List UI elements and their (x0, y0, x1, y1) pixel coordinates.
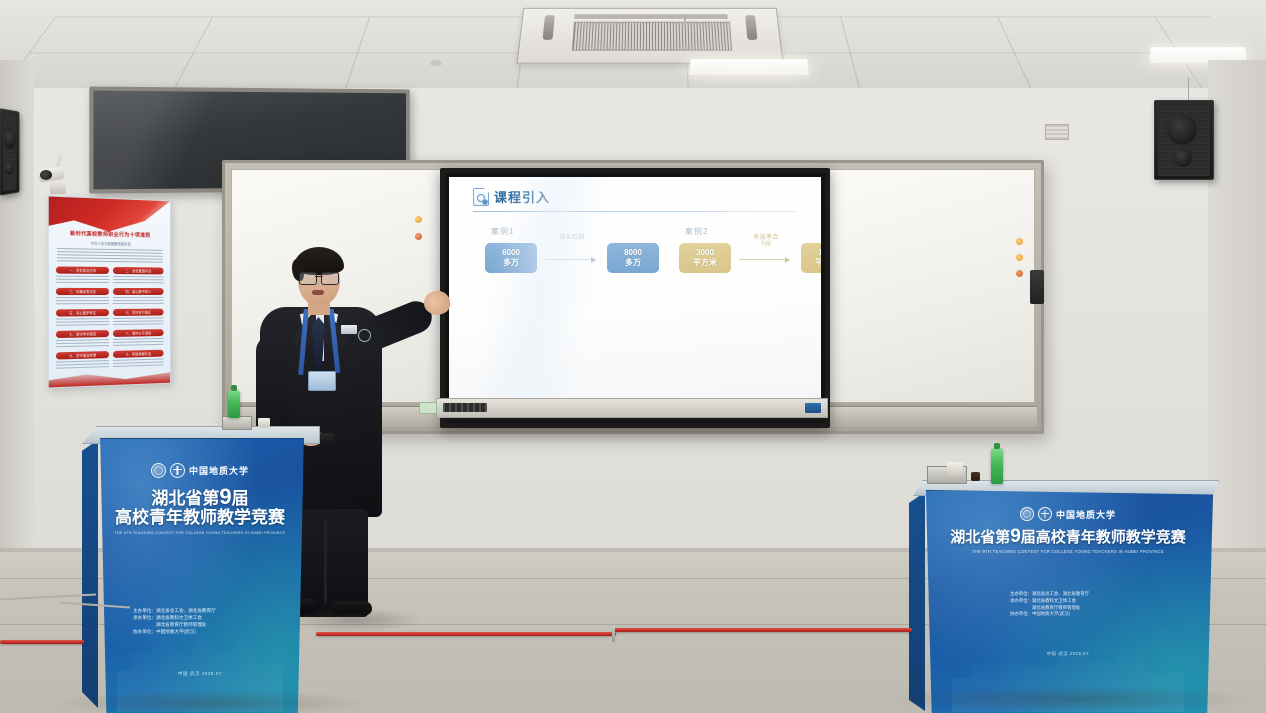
list-item: 十、积极奉献社会 (113, 350, 164, 369)
panel-screen[interactable]: 课程引入 案例1 6000 多万 增长红利 (449, 177, 821, 401)
rope-barrier-segment (316, 632, 616, 636)
podium-banner: 中国地质大学 湖北省第9届高校青年教师教学竞赛 THE 9TH TEACHING… (923, 490, 1213, 713)
ceiling-light (689, 59, 809, 75)
organizer-line: 协办单位：中国地质大学(武汉) (1010, 611, 1089, 618)
case-flow-row: 6000 多万 增长红利 8000 多万 (485, 243, 659, 273)
ceiling-ac-cassette (516, 8, 783, 64)
wall-vent (1045, 124, 1069, 140)
wall-speaker-right (1154, 100, 1214, 180)
arrow-label: 增长红利 (559, 232, 585, 241)
green-water-bottle (991, 448, 1003, 484)
poster-item-label: 四、潜心教书育人 (113, 288, 164, 295)
title-line1-tail: 届 (1021, 529, 1036, 546)
slide-title: 课程引入 (494, 187, 550, 206)
magnet-icon[interactable] (1016, 270, 1023, 277)
podium-side-panel (909, 492, 925, 711)
poster-item-label: 八、秉持公平诚信 (113, 329, 164, 337)
presenter-glasses-icon (299, 272, 339, 283)
slide-content: 课程引入 案例1 6000 多万 增长红利 (449, 177, 821, 401)
speaker-cone-icon (1167, 115, 1197, 145)
poster-item-label: 七、遵守学术规范 (56, 330, 109, 338)
podium-banner: 中国地质大学 湖北省第9届 高校青年教师教学竞赛 THE 9TH TEACHIN… (96, 438, 304, 713)
speaker-tweeter-icon (1174, 149, 1192, 167)
glasses-lens-left (299, 272, 317, 285)
ac-vent-right (745, 15, 757, 40)
camera-bracket (50, 180, 66, 194)
poster-subtitle: 中华人民共和国教育部印发 (59, 240, 161, 247)
university-name: 中国地质大学 (189, 464, 249, 477)
flow-node-from: 3000 平方米 (679, 243, 731, 273)
title-line1-part: 湖北省第 (950, 529, 1010, 546)
poster-items: 一、坚定政治方向 二、自觉爱国守法 三、传播优秀文化 四、潜心教书育人 五、关心… (56, 266, 164, 370)
presenter-lapel-pin-icon (358, 329, 371, 342)
contest-edition-number: 9 (1010, 526, 1021, 547)
organizer-line: 协办单位：中国地质大学(武汉) (133, 628, 216, 635)
podium-side-panel (82, 440, 98, 708)
flow-node-to: 8000 多万 (607, 243, 659, 273)
flow-arrow: 有效率合 利益 (735, 243, 797, 273)
smoke-detector-icon (430, 60, 442, 66)
list-item: 一、坚定政治方向 (56, 266, 109, 285)
speaker-cone-icon (4, 128, 16, 149)
title-line2: 高校青年教师教学竞赛 (1036, 529, 1186, 546)
desk-small-prop (971, 472, 980, 481)
contest-title: 湖北省第9届 高校青年教师教学竞赛 (97, 485, 303, 527)
poster-intro-text (57, 248, 163, 264)
document-search-icon (473, 188, 489, 206)
wall-poster: 新时代高校教师职业行为十项准则 中华人民共和国教育部印发 一、坚定政治方向 二、… (48, 195, 171, 388)
green-water-bottle (228, 390, 240, 418)
slide-divider (473, 211, 797, 212)
whiteboard-surface-right (825, 169, 1035, 403)
node-unit: 多万 (503, 258, 519, 268)
speaker-mesh (3, 113, 16, 191)
case-flow-row: 3000 平方米 有效率合 利益 1247 平方米 (679, 243, 821, 273)
rope-post (612, 626, 615, 642)
case-block-1: 案例1 6000 多万 增长红利 (465, 226, 659, 273)
list-item: 三、传播优秀文化 (56, 288, 109, 306)
organizer-line: 承办单位：湖北省教科文卫体工会 (1010, 598, 1089, 605)
organizer-list: 主办单位：湖北省总工会、湖北省教育厅 承办单位：湖北省教科文卫体工会 湖北省教育… (1010, 591, 1089, 618)
poster-item-label: 十、积极奉献社会 (113, 350, 164, 358)
magnet-icon[interactable] (1016, 254, 1023, 261)
university-name: 中国地质大学 (1056, 508, 1116, 521)
contest-title: 湖北省第9届高校青年教师教学竞赛 (924, 527, 1212, 547)
rope-barrier-segment (612, 628, 912, 632)
contest-seal-icon (151, 463, 166, 478)
list-item: 九、坚守廉洁自律 (56, 351, 109, 371)
podium-left-shadow (60, 690, 360, 713)
ac-louver-bar (574, 14, 728, 19)
presenter-mouth (312, 290, 324, 295)
arrow-line-icon (739, 259, 789, 260)
poster-item-label: 六、坚持言行雅正 (113, 309, 164, 316)
event-date-location: 中国·武汉 2025.07 (924, 651, 1212, 657)
node-unit: 平方米 (815, 258, 821, 268)
title-line1-tail: 届 (232, 489, 249, 508)
list-item: 七、遵守学术规范 (56, 330, 109, 349)
organizer-list: 主办单位：湖北省总工会、湖北省教育厅 承办单位：湖北省教科文卫体工会 湖北省教育… (133, 607, 216, 635)
list-item: 五、关心爱护学生 (56, 309, 109, 328)
podium-left: 中国地质大学 湖北省第9届 高校青年教师教学竞赛 THE 9TH TEACHIN… (82, 426, 318, 713)
wall-speaker-left (0, 108, 20, 196)
organizer-line: 主办单位：湖北省总工会、湖北省教育厅 (1010, 591, 1089, 598)
flow-node-to: 1247 平方米 (801, 243, 821, 273)
presenter-leg-seam (324, 521, 327, 603)
event-date-location: 中国·武汉 2025.07 (97, 671, 303, 677)
poster-item-label: 二、自觉爱国守法 (113, 267, 164, 274)
classroom-scene: 新时代高校教师职业行为十项准则 中华人民共和国教育部印发 一、坚定政治方向 二、… (0, 0, 1266, 713)
node-value: 3000 (696, 248, 714, 258)
flow-arrow: 增长红利 (541, 243, 603, 273)
podium-right-shadow (890, 686, 1250, 712)
list-item: 二、自觉爱国守法 (113, 267, 164, 285)
presenter-name-tag (341, 325, 357, 334)
glasses-lens-right (321, 272, 339, 285)
panel-shelf (436, 398, 828, 418)
node-value: 1247 (818, 248, 821, 258)
organizer-line: 承办单位：湖北省教科文卫体工会 (133, 614, 216, 621)
contest-edition-number: 9 (219, 484, 231, 509)
ceiling-stem (684, 14, 686, 28)
arrow-sublabel: 利益 (761, 240, 771, 247)
contest-title-english: THE 9TH TEACHING CONTEST FOR COLLEGE YOU… (97, 531, 303, 535)
podium-logo-row: 中国地质大学 (97, 463, 303, 478)
list-item: 八、秉持公平诚信 (113, 329, 164, 348)
panel-control-strip[interactable] (443, 403, 487, 412)
title-line1-part: 湖北省第 (151, 489, 219, 508)
podium-right: 中国地质大学 湖北省第9届高校青年教师教学竞赛 THE 9TH TEACHING… (905, 480, 1225, 713)
magnet-icon[interactable] (415, 233, 422, 240)
title-line2: 高校青年教师教学竞赛 (97, 509, 303, 527)
panel-logo-badge (805, 403, 821, 413)
contest-seal-icon (1020, 507, 1034, 521)
interactive-flat-panel[interactable]: 课程引入 案例1 6000 多万 增长红利 (440, 168, 830, 428)
node-value: 8000 (624, 248, 642, 258)
board-side-clip (1030, 270, 1044, 304)
flow-node-from: 6000 多万 (485, 243, 537, 273)
presenter-hair (294, 247, 344, 275)
camera-lens-icon (40, 170, 52, 180)
case-block-2: 案例2 3000 平方米 有效率合 利益 (659, 226, 821, 273)
node-value: 6000 (502, 248, 520, 258)
poster-item-label: 九、坚守廉洁自律 (56, 351, 109, 359)
poster-item-label: 五、关心爱护学生 (56, 309, 109, 317)
speaker-wire (1188, 78, 1189, 102)
list-item: 四、潜心教书育人 (113, 288, 164, 306)
rope-barrier-segment (0, 640, 84, 644)
magnet-icon[interactable] (415, 216, 422, 223)
presenter-id-badge (308, 371, 336, 391)
university-emblem-icon (170, 463, 185, 478)
slide-cases: 案例1 6000 多万 增长红利 (465, 226, 805, 273)
desk-cup-prop (258, 418, 270, 428)
poster-title: 新时代高校教师职业行为十项准则 (55, 230, 165, 240)
node-unit: 平方米 (693, 258, 717, 268)
poster-item-label: 一、坚定政治方向 (56, 266, 109, 274)
university-emblem-icon (1038, 507, 1052, 521)
flag-graphic (49, 197, 170, 235)
node-unit: 多万 (625, 258, 641, 268)
ac-grille (572, 22, 732, 51)
ac-vent-left (543, 15, 555, 40)
contest-title-english: THE 9TH TEACHING CONTEST FOR COLLEGE YOU… (924, 549, 1212, 554)
slide-header: 课程引入 (473, 187, 805, 206)
desk-box-prop (222, 416, 252, 430)
arrow-line-icon (545, 259, 595, 260)
podium-logo-row: 中国地质大学 (924, 507, 1212, 521)
magnet-icon[interactable] (1016, 238, 1023, 245)
organizer-line: 主办单位：湖北省总工会、湖北省教育厅 (133, 607, 216, 614)
organizer-line: 湖北省教育厅教师管理处 (133, 621, 216, 628)
list-item: 六、坚持言行雅正 (113, 309, 164, 327)
poster-item-label: 三、传播优秀文化 (56, 288, 109, 295)
desk-cup-prop (947, 462, 963, 476)
